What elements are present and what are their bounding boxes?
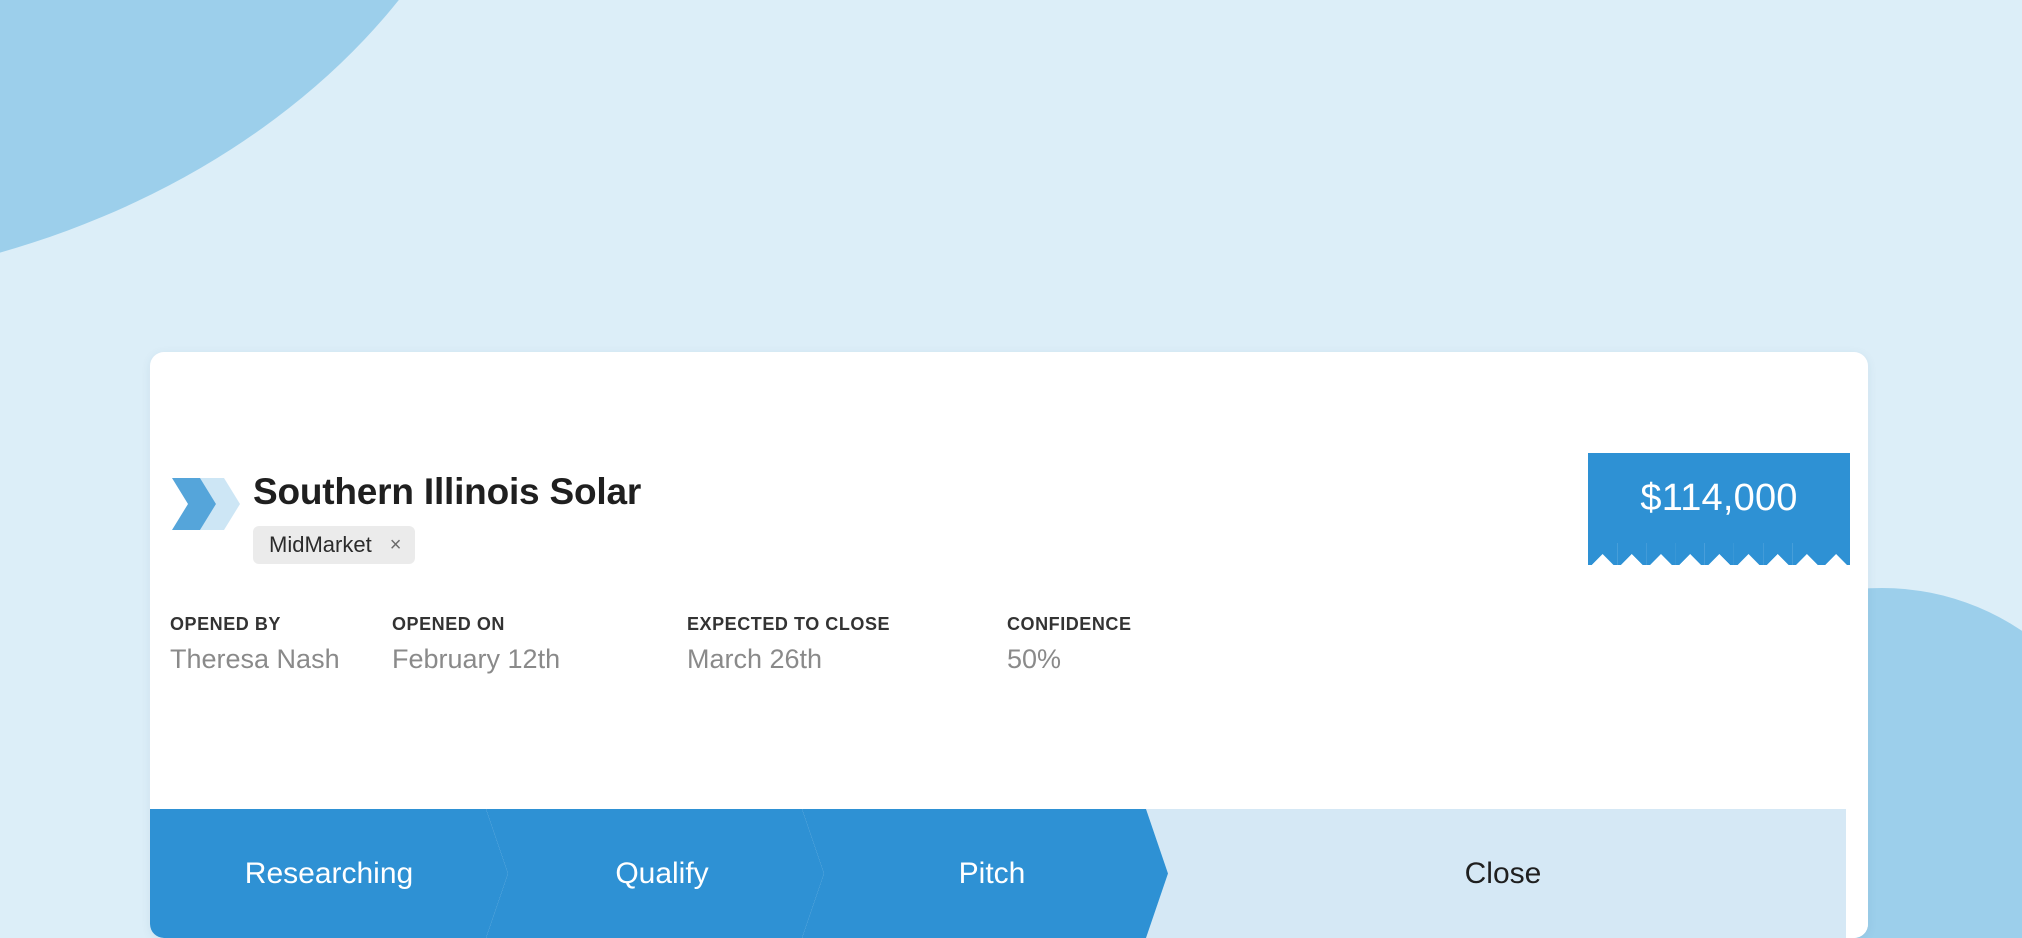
stage-researching[interactable]: Researching bbox=[150, 809, 508, 938]
meta-label: OPENED BY bbox=[170, 614, 392, 635]
tag-chip-midmarket[interactable]: MidMarket × bbox=[253, 526, 415, 564]
meta-field-expected-to-close: EXPECTED TO CLOSE March 26th bbox=[687, 614, 1007, 675]
stage-close[interactable]: Close bbox=[1146, 809, 1846, 938]
stage-pipeline: Researching Qualify Pitch Close bbox=[150, 809, 1868, 938]
meta-field-confidence: CONFIDENCE 50% bbox=[1007, 614, 1287, 675]
meta-value: 50% bbox=[1007, 645, 1287, 675]
deal-card-body: Southern Illinois Solar MidMarket × $114… bbox=[150, 352, 1868, 809]
double-chevron-icon bbox=[170, 476, 242, 532]
meta-value: March 26th bbox=[687, 645, 1007, 675]
tag-remove-icon[interactable]: × bbox=[390, 535, 402, 555]
stage-label: Close bbox=[1465, 859, 1542, 889]
amount-value: $114,000 bbox=[1640, 479, 1797, 517]
meta-value: February 12th bbox=[392, 645, 687, 675]
stage-pitch[interactable]: Pitch bbox=[802, 809, 1168, 938]
deal-meta-row: OPENED BY Theresa Nash OPENED ON Februar… bbox=[170, 614, 1287, 675]
stage-qualify[interactable]: Qualify bbox=[486, 809, 824, 938]
deal-header-text: Southern Illinois Solar MidMarket × bbox=[253, 472, 641, 564]
amount-badge-zigzag-edge bbox=[1588, 543, 1850, 565]
stage-label: Researching bbox=[245, 859, 413, 889]
meta-field-opened-on: OPENED ON February 12th bbox=[392, 614, 687, 675]
amount-badge-body: $114,000 bbox=[1588, 453, 1850, 543]
deal-card: Southern Illinois Solar MidMarket × $114… bbox=[150, 352, 1868, 938]
meta-value: Theresa Nash bbox=[170, 645, 392, 675]
tag-label: MidMarket bbox=[269, 534, 372, 556]
meta-label: OPENED ON bbox=[392, 614, 687, 635]
stage-pipeline-inner: Researching Qualify Pitch Close bbox=[150, 809, 1868, 938]
deal-header: Southern Illinois Solar MidMarket × bbox=[170, 472, 641, 564]
blob-top-left bbox=[0, 0, 520, 290]
amount-badge: $114,000 bbox=[1588, 453, 1850, 565]
meta-label: CONFIDENCE bbox=[1007, 614, 1287, 635]
meta-field-opened-by: OPENED BY Theresa Nash bbox=[170, 614, 392, 675]
tag-row: MidMarket × bbox=[253, 526, 641, 564]
deal-title: Southern Illinois Solar bbox=[253, 472, 641, 512]
meta-label: EXPECTED TO CLOSE bbox=[687, 614, 1007, 635]
stage-label: Qualify bbox=[615, 859, 708, 889]
stage-label: Pitch bbox=[959, 859, 1026, 889]
